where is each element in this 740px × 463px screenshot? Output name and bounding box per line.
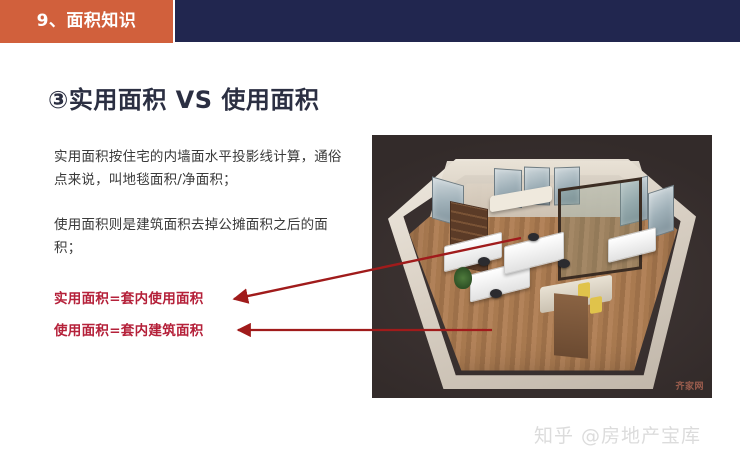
paragraph-1: 实用面积按住宅的内墙面水平投影线计算，通俗点来说，叫地毯面积/净面积； [54, 146, 354, 192]
slide-header: 9、面积知识 [0, 0, 740, 43]
paragraph-2: 使用面积则是建筑面积去掉公摊面积之后的面积； [54, 214, 354, 260]
chair-2 [490, 289, 502, 298]
page-title: ③实用面积 VS 使用面积 [48, 80, 319, 115]
header-section-tab: 9、面积知识 [0, 0, 173, 43]
cushion-2 [590, 296, 602, 314]
emphasis-formula-block: 实用面积=套内使用面积 使用面积=套内建筑面积 [54, 291, 284, 339]
header-navy-band [175, 0, 740, 42]
emphasis-line-2: 使用面积=套内建筑面积 [54, 323, 284, 339]
slide-root: 9、面积知识 ③实用面积 VS 使用面积 实用面积按住宅的内墙面水平投影线计算，… [0, 0, 740, 463]
plant-1 [454, 267, 472, 289]
kitchen-counter [554, 293, 588, 359]
zhihu-watermark: 知乎 @房地产宝库 [534, 421, 701, 448]
body-text-column: 实用面积按住宅的内墙面水平投影线计算，通俗点来说，叫地毯面积/净面积； 使用面积… [54, 146, 354, 260]
render-scene: 齐家网 [372, 135, 712, 398]
emphasis-line-1: 实用面积=套内使用面积 [54, 291, 284, 307]
floorplan-render-image: 齐家网 [372, 135, 712, 398]
chair-4 [528, 233, 539, 241]
header-section-label: 9、面积知识 [37, 13, 137, 30]
chair-1 [478, 257, 490, 266]
render-watermark: 齐家网 [675, 379, 704, 392]
chair-3 [558, 259, 570, 268]
glass-partition [558, 177, 642, 281]
